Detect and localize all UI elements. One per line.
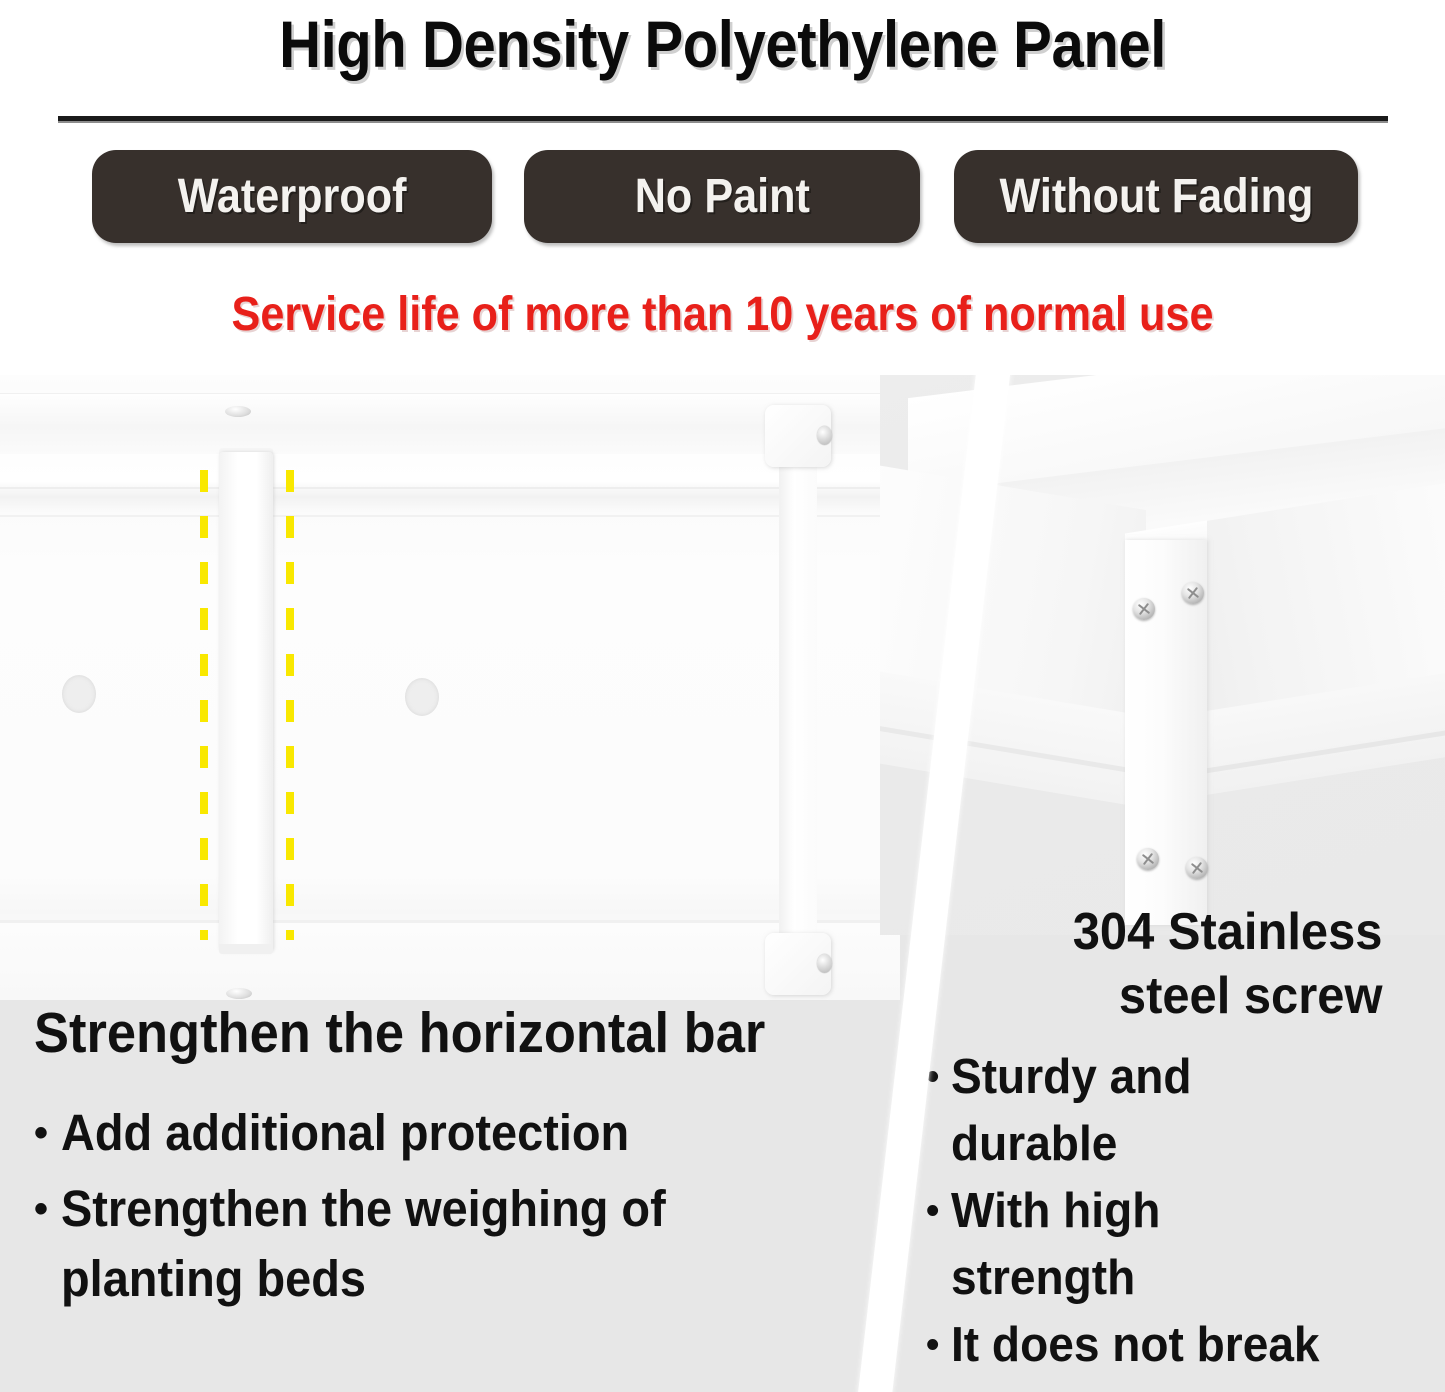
bed-dimple: [405, 678, 439, 716]
header-section: High Density Polyethylene Panel Waterpro…: [0, 0, 1445, 375]
feature-badge-no-paint: No Paint: [524, 150, 920, 243]
feature-badge-row: Waterproof No Paint Without Fading: [0, 150, 1445, 245]
list-item: • Sturdy and durable: [880, 1044, 1390, 1178]
feature-badge-label: Without Fading: [999, 173, 1313, 221]
right-panel-heading-line1: 304 Stainless: [911, 900, 1383, 964]
list-item: • It does not break or rust: [880, 1312, 1390, 1392]
list-item-label: With high strength: [951, 1178, 1355, 1312]
rim-screw-icon: [225, 406, 251, 417]
garden-bed-photo: [0, 375, 900, 1000]
list-item: • With high strength: [880, 1178, 1390, 1312]
list-item-label: It does not break or rust: [951, 1312, 1355, 1392]
page-title: High Density Polyethylene Panel: [87, 4, 1359, 84]
corner-bracket-top: [765, 405, 831, 467]
list-item: • Strengthen the weighing of planting be…: [34, 1174, 854, 1314]
list-item-label: Strengthen the weighing of planting beds: [61, 1174, 788, 1314]
feature-badge-label: Waterproof: [178, 173, 407, 221]
stainless-screw-icon: [1137, 848, 1159, 870]
bed-dimple: [62, 675, 96, 713]
bed-rim-line: [0, 487, 900, 489]
screw-icon: [817, 954, 832, 973]
highlight-dash-line-right: [286, 470, 294, 940]
title-divider-rule: [58, 116, 1388, 123]
feature-badge-without-fading: Without Fading: [954, 150, 1358, 243]
bullet-dot-icon: •: [34, 1098, 48, 1168]
right-panel-heading-line2: steel screw: [911, 964, 1383, 1028]
left-feature-panel: Strengthen the horizontal bar • Add addi…: [0, 375, 965, 1392]
support-bar-foot: [219, 944, 273, 954]
left-text-block: Strengthen the horizontal bar • Add addi…: [34, 1002, 854, 1320]
list-item-label: Sturdy and durable: [951, 1044, 1355, 1178]
right-panel-heading: 304 Stainless steel screw: [911, 900, 1390, 1028]
bed-rim-line: [0, 515, 900, 517]
rim-screw-icon: [226, 988, 252, 999]
service-life-tagline: Service life of more than 10 years of no…: [72, 286, 1373, 344]
list-item-label: Add additional protection: [61, 1098, 629, 1168]
feature-badge-label: No Paint: [634, 173, 809, 221]
corner-bracket-bottom: [765, 933, 831, 995]
list-item: • Add additional protection: [34, 1098, 854, 1168]
screw-icon: [817, 426, 832, 445]
highlight-dash-line-left: [200, 470, 208, 940]
bullet-dot-icon: •: [926, 1312, 939, 1379]
infographic-page: High Density Polyethylene Panel Waterpro…: [0, 0, 1445, 1392]
content-section: Strengthen the horizontal bar • Add addi…: [0, 375, 1445, 1392]
stainless-screw-icon: [1186, 857, 1208, 879]
left-panel-heading: Strengthen the horizontal bar: [34, 1002, 788, 1064]
stainless-screw-icon: [1133, 598, 1155, 620]
stainless-screw-icon: [1182, 582, 1204, 604]
horizontal-support-bar: [219, 452, 273, 952]
right-text-block: 304 Stainless steel screw • Sturdy and d…: [880, 900, 1390, 1392]
bullet-dot-icon: •: [926, 1178, 939, 1245]
bullet-dot-icon: •: [34, 1174, 48, 1244]
bed-frame-post: [779, 435, 817, 995]
feature-badge-waterproof: Waterproof: [92, 150, 492, 243]
